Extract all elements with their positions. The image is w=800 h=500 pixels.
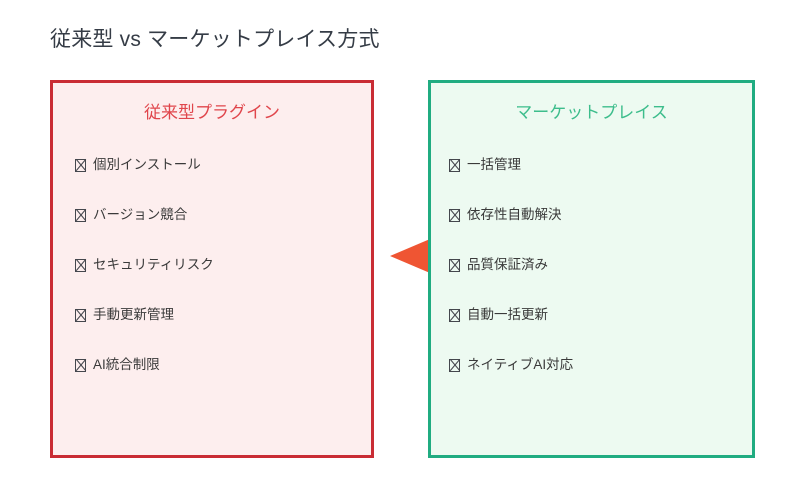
list-item: AI統合制限 (53, 355, 371, 375)
marketplace-panel: マーケットプレイス 一括管理 依存性自動解決 品質保証済み 自動一括更新 ネイテ… (428, 80, 755, 458)
missing-glyph-box-icon (75, 159, 86, 172)
list-item: ネイティブAI対応 (431, 355, 752, 375)
list-item-label: ネイティブAI対応 (467, 355, 573, 375)
list-item: 自動一括更新 (431, 305, 752, 325)
missing-glyph-box-icon (75, 359, 86, 372)
missing-glyph-box-icon (449, 159, 460, 172)
list-item: 手動更新管理 (53, 305, 371, 325)
list-item: 一括管理 (431, 155, 752, 175)
list-item-label: バージョン競合 (93, 205, 187, 225)
list-item-label: 個別インストール (93, 155, 201, 175)
page-title: 従来型 vs マーケットプレイス方式 (50, 26, 380, 54)
marketplace-panel-title: マーケットプレイス (431, 101, 752, 125)
list-item-label: 依存性自動解決 (467, 205, 562, 225)
missing-glyph-box-icon (449, 259, 460, 272)
list-item: バージョン競合 (53, 205, 371, 225)
missing-glyph-box-icon (449, 209, 460, 222)
list-item-label: AI統合制限 (93, 355, 160, 375)
legacy-plugin-panel: 従来型プラグイン 個別インストール バージョン競合 セキュリティリスク 手動更新… (50, 80, 374, 458)
missing-glyph-box-icon (75, 259, 86, 272)
marketplace-feature-list: 一括管理 依存性自動解決 品質保証済み 自動一括更新 ネイティブAI対応 (431, 155, 752, 405)
list-item-label: 手動更新管理 (93, 305, 174, 325)
list-item-label: 自動一括更新 (467, 305, 548, 325)
list-item-label: 一括管理 (467, 155, 521, 175)
legacy-feature-list: 個別インストール バージョン競合 セキュリティリスク 手動更新管理 AI統合制限 (53, 155, 371, 405)
list-item: 品質保証済み (431, 255, 752, 275)
list-item-label: セキュリティリスク (93, 255, 214, 275)
missing-glyph-box-icon (449, 359, 460, 372)
missing-glyph-box-icon (75, 309, 86, 322)
left-pointing-triangle-icon (390, 239, 430, 273)
missing-glyph-box-icon (449, 309, 460, 322)
legacy-panel-title: 従来型プラグイン (53, 101, 371, 125)
list-item-label: 品質保証済み (467, 255, 548, 275)
list-item: 依存性自動解決 (431, 205, 752, 225)
diagram-canvas: 従来型 vs マーケットプレイス方式 従来型プラグイン 個別インストール バージ… (0, 0, 800, 500)
list-item: セキュリティリスク (53, 255, 371, 275)
list-item: 個別インストール (53, 155, 371, 175)
missing-glyph-box-icon (75, 209, 86, 222)
